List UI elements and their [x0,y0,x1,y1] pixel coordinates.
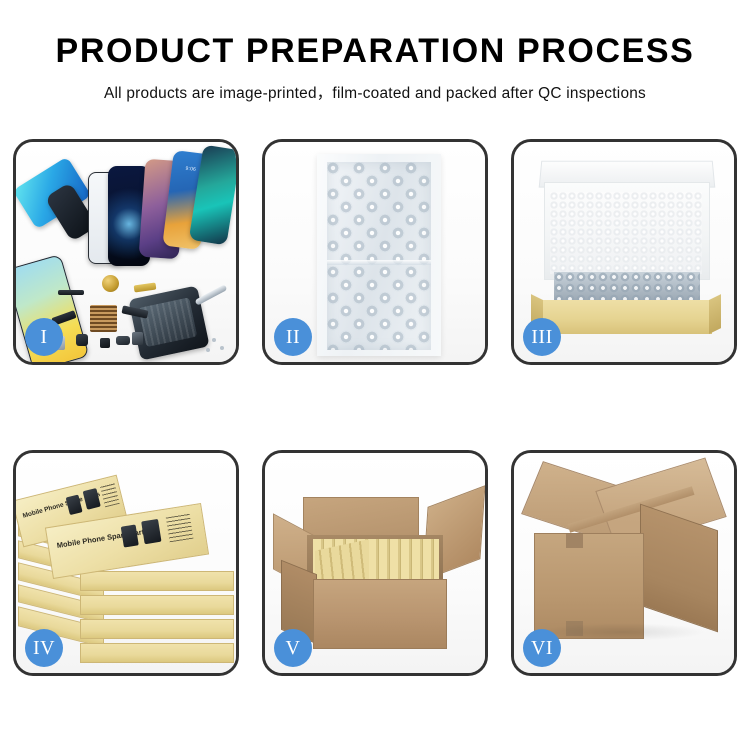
earpiece-mesh-part [58,290,84,295]
box-art-screen-2b [141,519,161,544]
screw-part-3 [206,348,210,352]
repair-tweezers-icon [195,284,228,305]
button-component [100,338,110,348]
screw-part-2 [220,346,224,350]
retail-box-edge-r2 [80,595,234,615]
disassembled-phone-back [128,285,209,360]
screw-part-1 [212,338,216,342]
step-badge-1: I [25,318,63,356]
speaker-component [102,275,119,292]
bubble-wrap-texture [327,162,431,350]
step-panel-2[interactable]: II [262,139,488,365]
flex-cable-gold [134,283,157,293]
chip-component [132,332,143,345]
retail-box-edge-r3 [80,619,234,639]
step-badge-2: II [274,318,312,356]
step-badge-6: VI [523,629,561,667]
step-panel-1[interactable]: 9:06 I [13,139,239,365]
process-steps-grid: 9:06 I [13,139,737,676]
step-panel-4[interactable]: Mobile Phone Spare Parts Mobile Phone Sp… [13,450,239,676]
step-panel-3[interactable]: III [511,139,737,365]
connector-board-part [90,305,117,332]
foam-liner [550,192,702,274]
page-subtitle: All products are image-printed，film-coat… [0,81,750,103]
step-badge-3: III [523,318,561,356]
step-badge-4: IV [25,629,63,667]
box-art-screen-2a [121,524,139,547]
retail-box-edge-r4 [80,643,234,663]
carton-ground-shadow [538,623,706,641]
wrapped-product-inside-box [554,272,700,302]
camera-module-part [76,334,88,346]
bubble-wrap-seam [327,260,431,265]
step-panel-6[interactable]: VI [511,450,737,676]
step-panel-5[interactable]: V [262,450,488,676]
charging-port-part [116,336,130,345]
page-title: PRODUCT PREPARATION PROCESS [0,34,750,70]
retail-box-edge-r1 [80,571,234,591]
box-art-text-lines-2 [166,513,194,542]
inner-box-front-panel [540,300,712,334]
page-header: PRODUCT PREPARATION PROCESS All products… [0,0,750,103]
carton-handle-notch-top [566,533,583,548]
step-badge-5: V [274,629,312,667]
carton-front-panel [313,579,447,649]
